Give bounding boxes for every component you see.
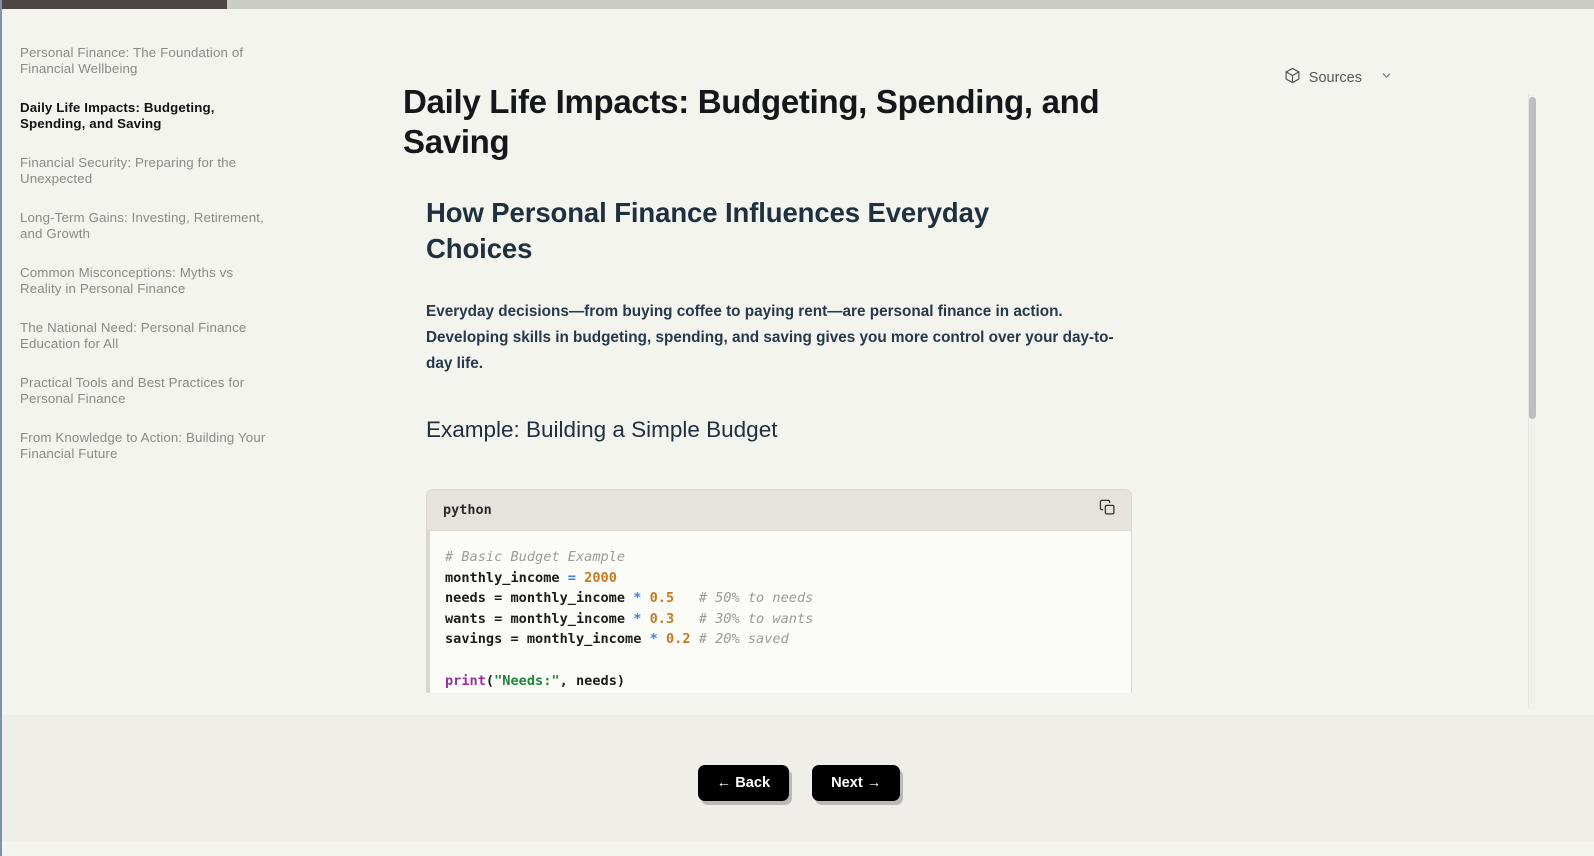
code-var-1: monthly_income [445, 570, 560, 586]
code-language-label: python [443, 502, 492, 518]
code-string-6: "Needs:" [494, 673, 559, 689]
code-num-4: 0.2 [666, 631, 691, 647]
code-comment-2: # 50% to needs [674, 590, 813, 606]
example-subheading: Example: Building a Simple Budget [426, 415, 1118, 445]
code-num-1: 2000 [584, 570, 617, 586]
sidebar-item-5[interactable]: The National Need: Personal Finance Educ… [20, 320, 272, 352]
sources-button[interactable]: Sources [1284, 67, 1393, 88]
progress-bar-fill [2, 0, 227, 9]
sidebar-item-0[interactable]: Personal Finance: The Foundation of Fina… [20, 45, 272, 77]
code-content: # Basic Budget Example monthly_income = … [427, 531, 1131, 693]
copy-icon[interactable] [1099, 499, 1116, 521]
code-op-1: = [560, 570, 585, 586]
code-comment-3: # 30% to wants [674, 611, 813, 627]
code-block: python # Basic Budget Example monthly_in… [426, 489, 1132, 693]
code-keyword-6: print [445, 673, 486, 689]
bottom-strip [2, 841, 1594, 856]
section-heading: How Personal Finance Influences Everyday… [426, 195, 1066, 267]
code-op-4: * [641, 631, 666, 647]
lead-paragraph: Everyday decisions—from buying coffee to… [426, 299, 1116, 377]
app-root: Personal Finance: The Foundation of Fina… [0, 0, 1594, 856]
sources-label: Sources [1309, 70, 1362, 86]
sidebar-item-7[interactable]: From Knowledge to Action: Building Your … [20, 430, 272, 462]
progress-bar-track [2, 0, 1594, 9]
sidebar-item-6[interactable]: Practical Tools and Best Practices for P… [20, 375, 272, 407]
sidebar-item-2[interactable]: Financial Security: Preparing for the Un… [20, 155, 272, 187]
content-column: Daily Life Impacts: Budgeting, Spending,… [292, 9, 1252, 715]
code-num-2: 0.5 [650, 590, 675, 606]
content-scroll-area[interactable]: How Personal Finance Influences Everyday… [292, 85, 1252, 693]
box-icon [1284, 67, 1301, 88]
code-var-4: savings = monthly_income [445, 631, 641, 647]
footer-nav: ← Back Next → [2, 715, 1594, 841]
code-block-header: python [427, 490, 1131, 531]
content-inner: How Personal Finance Influences Everyday… [292, 85, 1118, 693]
content-scrollbar-thumb[interactable] [1529, 97, 1536, 419]
page-body: Personal Finance: The Foundation of Fina… [2, 9, 1594, 715]
code-op-3: * [625, 611, 650, 627]
code-comment-4: # 20% saved [691, 631, 789, 647]
code-op-2: * [625, 590, 650, 606]
sidebar-item-4[interactable]: Common Misconceptions: Myths vs Reality … [20, 265, 272, 297]
back-button[interactable]: ← Back [698, 765, 790, 801]
next-button[interactable]: Next → [812, 765, 900, 801]
sidebar-item-3[interactable]: Long-Term Gains: Investing, Retirement, … [20, 210, 272, 242]
code-num-3: 0.3 [650, 611, 675, 627]
code-tail-6: , needs) [560, 673, 625, 689]
sidebar-nav: Personal Finance: The Foundation of Fina… [2, 9, 292, 715]
code-var-2: needs = monthly_income [445, 590, 625, 606]
content-scrollbar-track[interactable] [1528, 94, 1535, 709]
code-comment-0: # Basic Budget Example [445, 549, 625, 565]
sidebar-item-1[interactable]: Daily Life Impacts: Budgeting, Spending,… [20, 100, 272, 132]
chevron-down-icon [1380, 69, 1393, 86]
code-var-3: wants = monthly_income [445, 611, 625, 627]
